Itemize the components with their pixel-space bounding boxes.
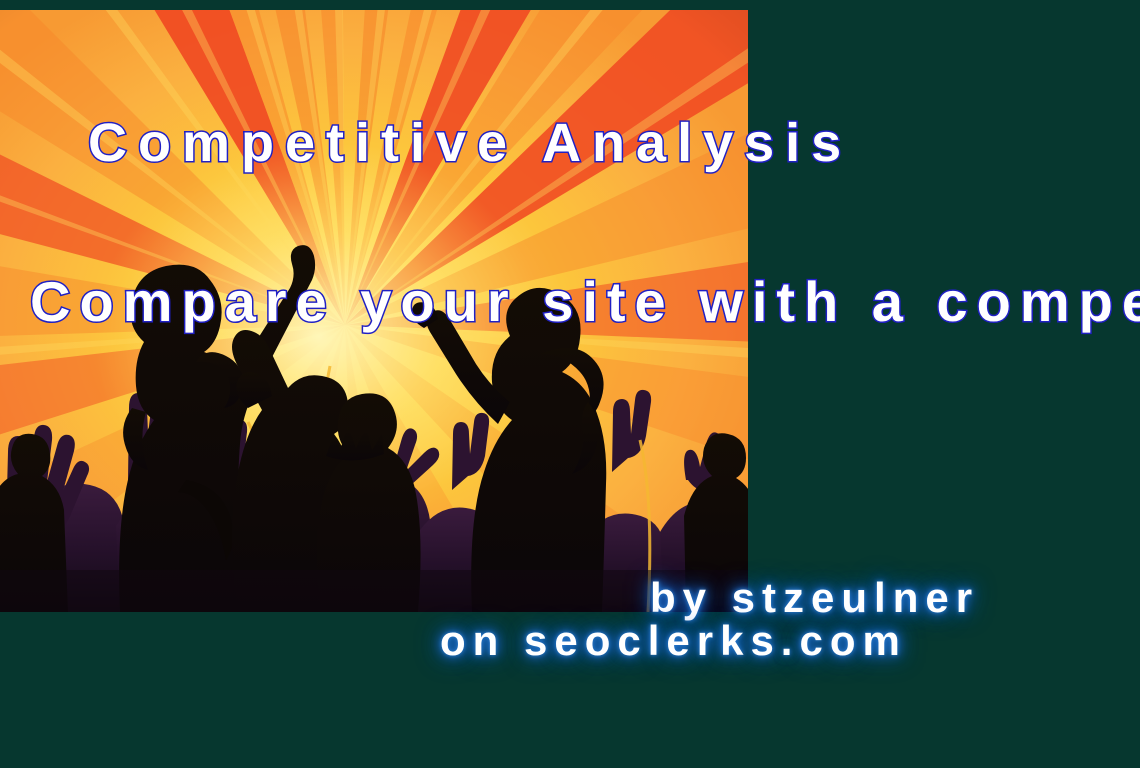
- credit-author: by stzeulner: [650, 575, 979, 621]
- page-title: Competitive Analysis: [88, 112, 852, 174]
- poster-canvas: Competitive Analysis Compare your site w…: [0, 0, 1140, 768]
- page-subtitle: Compare your site with a competitor: [30, 270, 1140, 334]
- credit-site: on seoclerks.com: [440, 618, 907, 664]
